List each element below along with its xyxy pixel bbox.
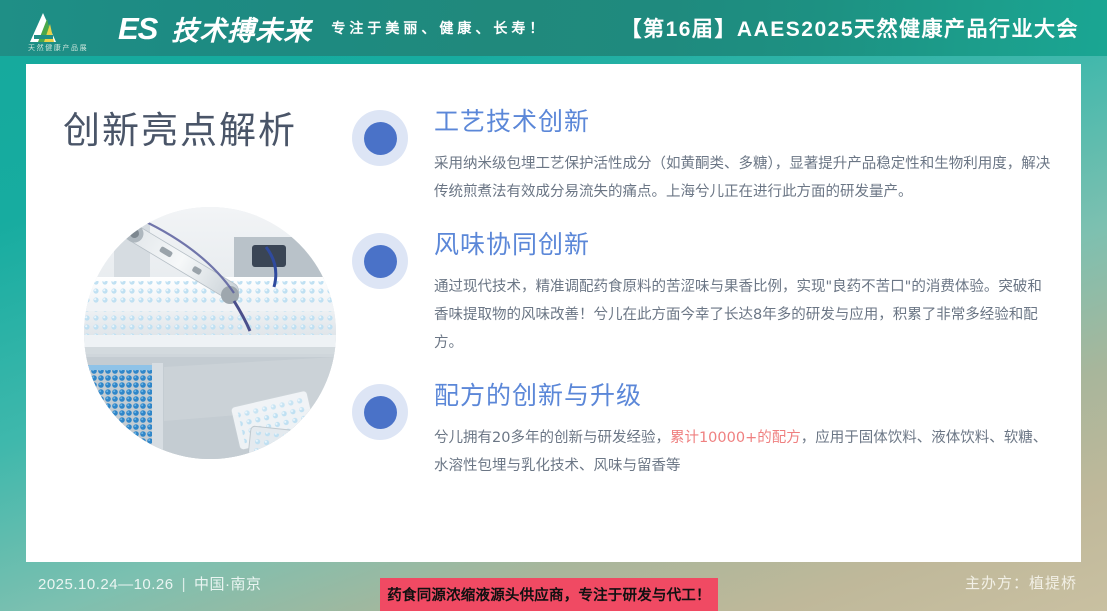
section-heading-3: 配方的创新与升级 xyxy=(434,380,1052,413)
promo-banner: 药食同源浓缩液源头供应商，专注于研发与代工！ xyxy=(380,578,718,611)
brand-slogan-sub: 专注于美丽、健康、长寿！ xyxy=(331,18,547,38)
section-text-3: 兮儿拥有20多年的创新与研发经验，累计10000+的配方，应用于固体饮料、液体饮… xyxy=(434,424,1052,481)
section-text-1: 采用纳米级包埋工艺保护活性成分（如黄酮类、多糖），显著提升产品稳定性和生物利用度… xyxy=(434,150,1052,207)
highlights-list: 工艺技术创新 采用纳米级包埋工艺保护活性成分（如黄酮类、多糖），显著提升产品稳定… xyxy=(352,106,1052,503)
section-text-3-before: 兮儿拥有20多年的创新与研发经验， xyxy=(434,430,670,446)
footer-date: 2025.10.24—10.26 xyxy=(38,576,174,593)
footer-location: 中国·南京 xyxy=(194,576,262,593)
footer-organizer: 主办方：植提桥 xyxy=(965,572,1077,593)
bullet-icon-3 xyxy=(352,384,408,440)
section-heading-2: 风味协同创新 xyxy=(434,229,1052,262)
bullet-dot xyxy=(364,245,397,278)
brand-logo[interactable]: 天然健康产品展 ES 技术搏未来 专注于美丽、健康、长寿！ xyxy=(26,8,547,48)
bullet-icon-1 xyxy=(352,110,408,166)
logo-letters: ES xyxy=(118,13,157,44)
formula-count-highlight: 累计10000+的配方 xyxy=(670,430,801,446)
highlight-section-1: 工艺技术创新 采用纳米级包埋工艺保护活性成分（如黄酮类、多糖），显著提升产品稳定… xyxy=(352,106,1052,206)
promo-banner-text: 药食同源浓缩液源头供应商，专注于研发与代工！ xyxy=(387,584,710,605)
page-title: 创新亮点解析 xyxy=(63,100,297,154)
production-line-photo xyxy=(84,207,336,459)
header-bar: 天然健康产品展 ES 技术搏未来 专注于美丽、健康、长寿！ 【第16届】AAES… xyxy=(0,0,1107,56)
bullet-dot xyxy=(364,122,397,155)
highlight-section-3: 配方的创新与升级 兮儿拥有20多年的创新与研发经验，累计10000+的配方，应用… xyxy=(352,380,1052,480)
section-heading-1: 工艺技术创新 xyxy=(434,106,1052,139)
conference-title: 【第16届】AAES2025天然健康产品行业大会 xyxy=(621,13,1079,43)
logo-subtitle: 天然健康产品展 xyxy=(28,43,88,53)
footer-separator: | xyxy=(182,576,186,593)
bullet-icon-2 xyxy=(352,233,408,289)
highlight-section-2: 风味协同创新 通过现代技术，精准调配药食原料的苦涩味与果香比例，实现"良药不苦口… xyxy=(352,229,1052,357)
brand-slogan: 技术搏未来 xyxy=(171,9,311,48)
footer-event-info: 2025.10.24—10.26|中国·南京 xyxy=(38,573,262,594)
section-text-2: 通过现代技术，精准调配药食原料的苦涩味与果香比例，实现"良药不苦口"的消费体验。… xyxy=(434,273,1052,358)
aes-logo-icon: 天然健康产品展 xyxy=(26,8,92,48)
bullet-dot xyxy=(364,396,397,429)
